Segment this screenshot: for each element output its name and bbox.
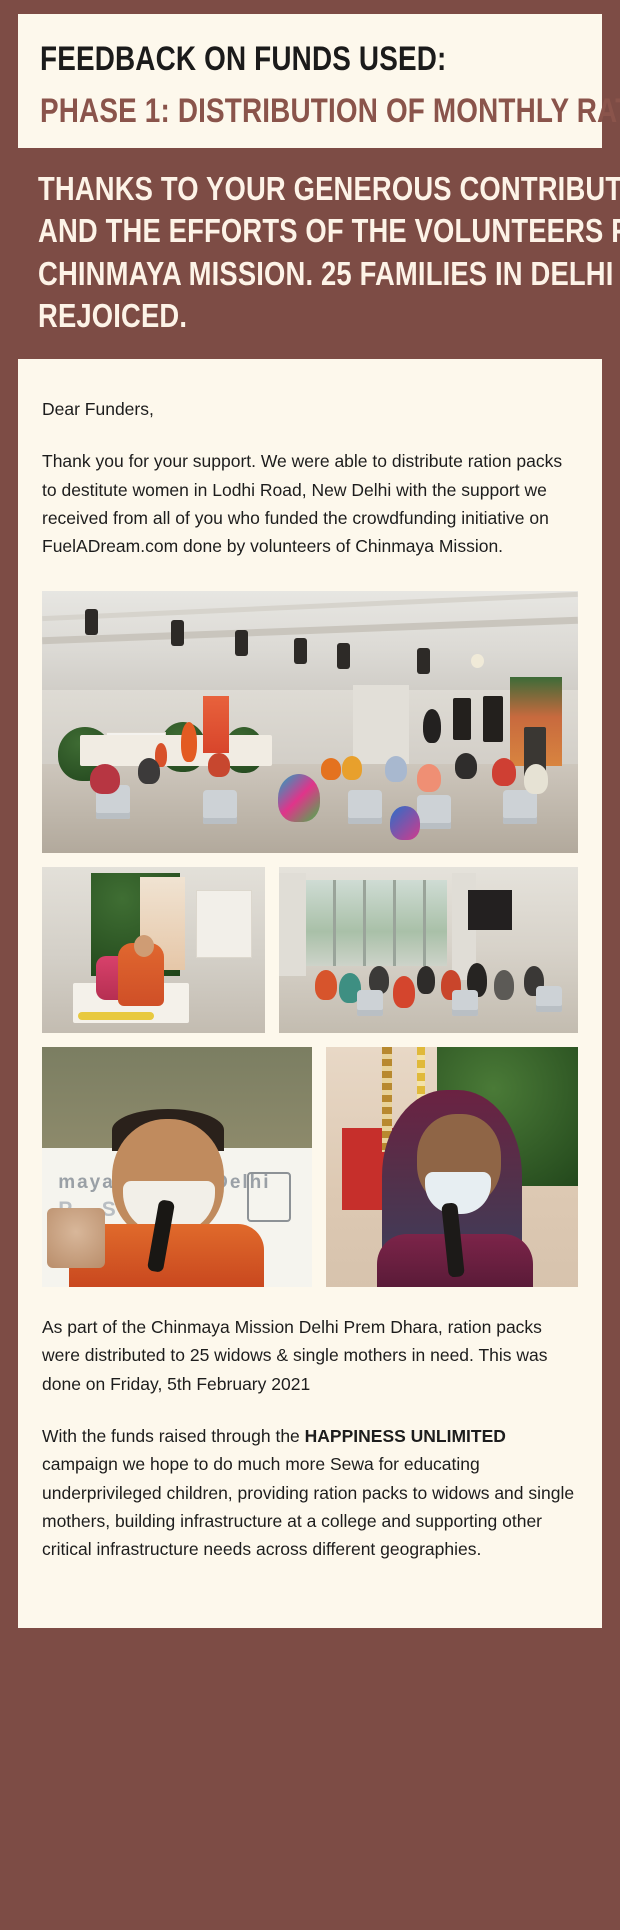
gallery-row-1 — [42, 591, 578, 853]
body-card: Dear Funders, Thank you for your support… — [18, 359, 602, 1627]
gallery-row-3: maya Mission Delhi P SS — [42, 1047, 578, 1287]
salutation: Dear Funders, — [42, 395, 578, 423]
swami-with-microphone-photo: maya Mission Delhi P SS — [42, 1047, 312, 1287]
banner-line-1: THANKS TO YOUR GENEROUS CONTRIBUTIONS — [38, 168, 490, 210]
distribution-details-paragraph: As part of the Chinmaya Mission Delhi Pr… — [42, 1313, 578, 1398]
swami-on-stage-photo — [42, 867, 265, 1033]
page-subtitle: PHASE 1: DISTRIBUTION OF MONTHLY RATIONS… — [40, 92, 483, 130]
campaign-outlook-paragraph: With the funds raised through the HAPPIN… — [42, 1422, 578, 1564]
campaign-paragraph-suffix: campaign we hope to do much more Sewa fo… — [42, 1454, 574, 1559]
page-title: FEEDBACK ON FUNDS USED: — [40, 40, 483, 78]
campaign-name: HAPPINESS UNLIMITED — [305, 1426, 506, 1446]
banner-line-2: AND THE EFFORTS OF THE VOLUNTEERS FROM — [38, 210, 490, 252]
header-card: FEEDBACK ON FUNDS USED: PHASE 1: DISTRIB… — [18, 14, 602, 148]
photo-gallery: maya Mission Delhi P SS — [42, 591, 578, 1287]
campaign-paragraph-prefix: With the funds raised through the — [42, 1426, 305, 1446]
banner-line-4: REJOICED. — [38, 295, 490, 337]
feedback-update-page: FEEDBACK ON FUNDS USED: PHASE 1: DISTRIB… — [0, 0, 620, 1930]
lobby-distribution-photo — [279, 867, 578, 1033]
banner-line-3: CHINMAYA MISSION. 25 FAMILIES IN DELHI — [38, 253, 490, 295]
intro-paragraph: Thank you for your support. We were able… — [42, 447, 578, 560]
thanks-banner: THANKS TO YOUR GENEROUS CONTRIBUTIONS AN… — [18, 148, 602, 359]
gallery-row-2 — [42, 867, 578, 1033]
beneficiary-woman-photo — [326, 1047, 578, 1287]
hall-audience-photo — [42, 591, 578, 853]
